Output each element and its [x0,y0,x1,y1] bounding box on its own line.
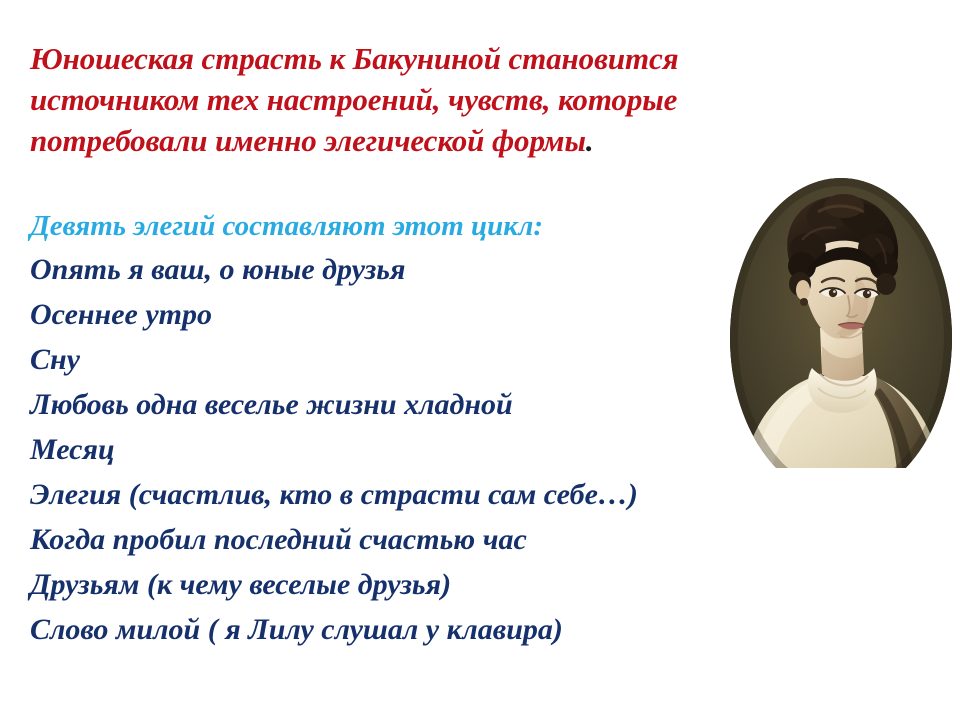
list-item: Слово милой ( я Лилу слушал у клавира) [30,607,730,652]
slide-canvas: Юношеская страсть к Бакуниной становится… [0,0,960,720]
list-item: Друзьям (к чему веселые друзья) [30,562,730,607]
page-title: Юношеская страсть к Бакуниной становится… [30,38,730,161]
page-title-text: Юношеская страсть к Бакуниной становится… [30,41,679,158]
list-item: Осеннее утро [30,292,730,337]
intro-line: Девять элегий составляют этот цикл: [30,161,730,247]
portrait-oval-frame [730,178,952,468]
list-item: Месяц [30,427,730,472]
portrait-illustration [730,178,952,468]
portrait-of-bakunina [714,172,960,468]
page-title-period: . [586,123,594,158]
list-item: Любовь одна веселье жизни хладной [30,382,730,427]
list-item: Когда пробил последний счастью час [30,517,730,562]
list-item: Сну [30,337,730,382]
list-item: Опять я ваш, о юные друзья [30,247,730,292]
list-item: Элегия (счастлив, кто в страсти сам себе… [30,472,730,517]
text-column: Юношеская страсть к Бакуниной становится… [30,38,730,652]
elegy-list: Опять я ваш, о юные друзья Осеннее утро … [30,247,730,652]
